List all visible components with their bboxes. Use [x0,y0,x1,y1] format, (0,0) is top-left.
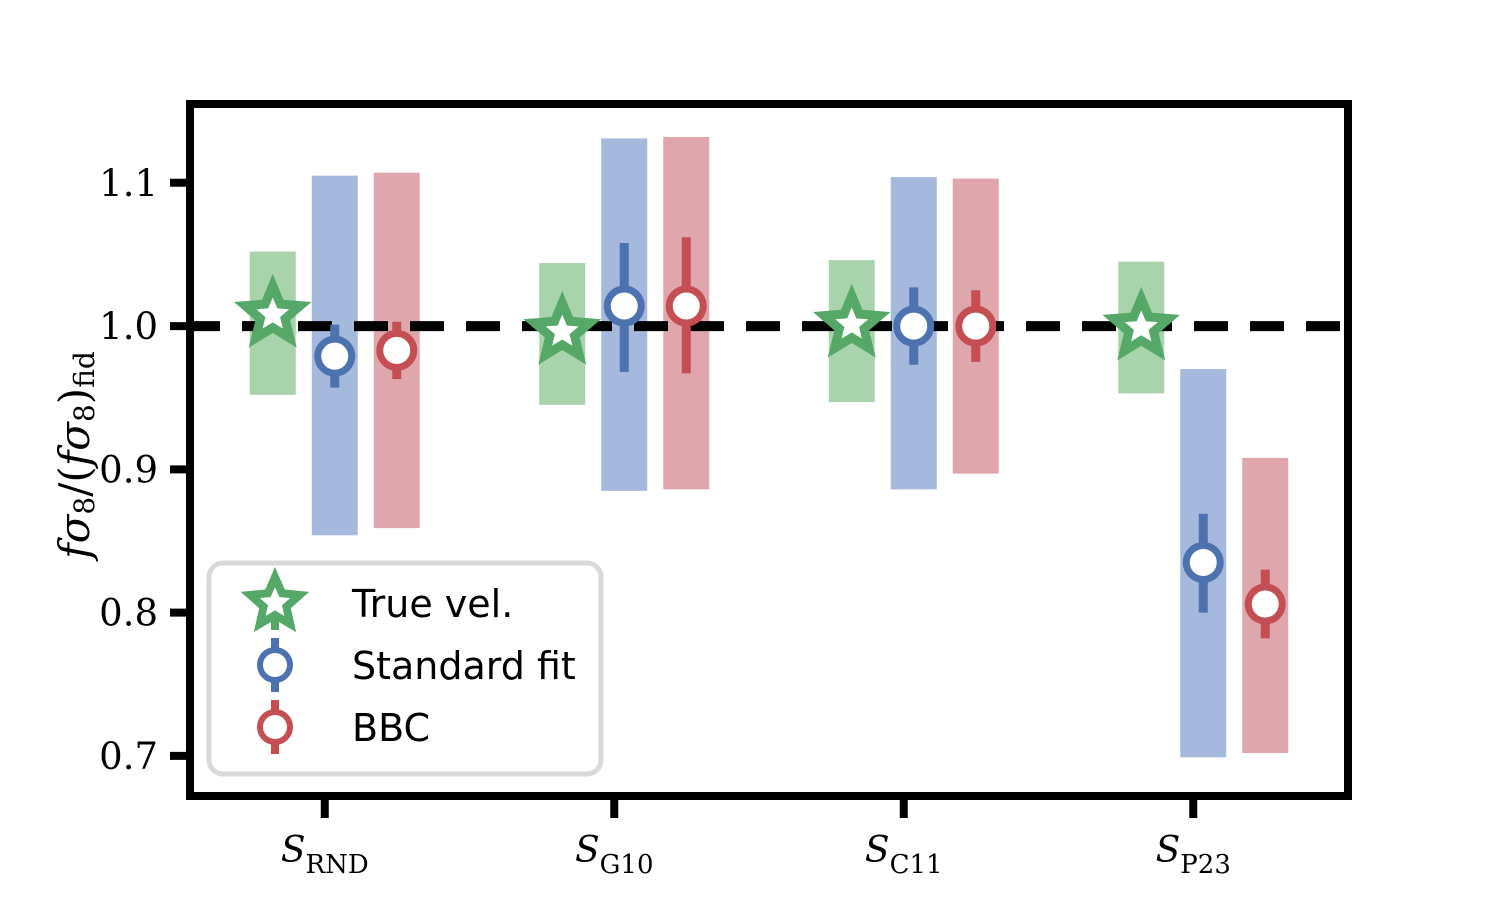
y-axis-title: fσ8/(fσ8)fid [50,351,101,562]
x-tick-label: SRND [281,830,369,880]
x-tick-label: SC11 [865,830,943,880]
legend-label: BBC [352,706,430,750]
svg-text:fσ8/(fσ8)fid: fσ8/(fσ8)fid [50,351,101,562]
y-axis-ticks: 0.70.80.91.01.1 [99,162,190,778]
circle-marker-icon [318,339,352,373]
x-tick-label: SP23 [1156,830,1231,880]
y-tick-label: 1.1 [99,162,158,205]
circle-marker-icon [1186,545,1220,579]
circle-marker-icon [897,309,931,343]
y-tick-label: 1.0 [99,305,158,348]
fsigma8-ratio-chart: 0.70.80.91.01.1 SRNDSG10SC11SP23 fσ8/(fσ… [0,0,1500,900]
circle-marker-icon [959,309,993,343]
legend-circle-icon [260,712,290,742]
legend-label: Standard fit [352,644,576,688]
circle-marker-icon [380,333,414,367]
figure-canvas: 0.70.80.91.01.1 SRNDSG10SC11SP23 fσ8/(fσ… [0,0,1500,900]
legend[interactable]: True vel.Standard fitBBC [209,563,601,774]
legend-circle-icon [260,650,290,680]
circle-marker-icon [1248,587,1282,621]
y-tick-label: 0.9 [99,448,158,491]
circle-marker-icon [669,289,703,323]
circle-marker-icon [607,289,641,323]
x-tick-label: SG10 [575,830,654,880]
legend-label: True vel. [351,582,513,626]
x-axis-ticks: SRNDSG10SC11SP23 [281,796,1231,880]
y-tick-label: 0.8 [99,592,158,635]
y-tick-label: 0.7 [99,735,158,778]
